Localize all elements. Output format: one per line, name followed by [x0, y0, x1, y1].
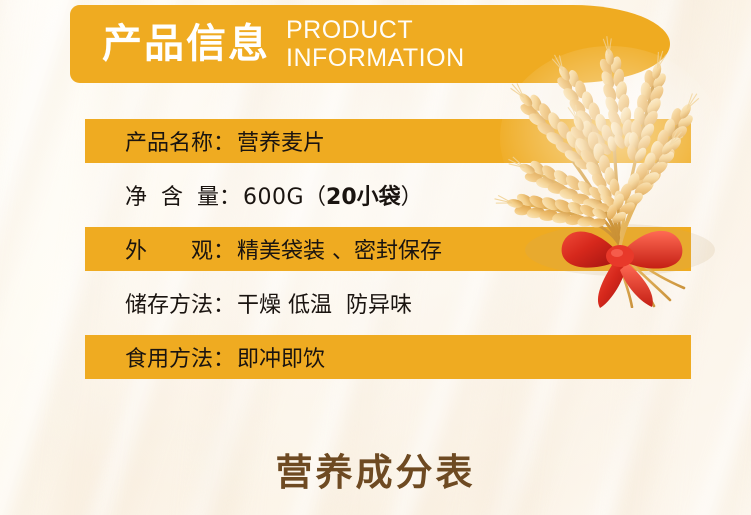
- info-value-net-weight: 600G（20小袋）: [243, 179, 423, 211]
- info-value-usage: 即冲即饮: [237, 341, 325, 373]
- net-weight-paren-open: （: [304, 185, 326, 210]
- product-info-list: 产品名称： 营养麦片 净 含 量： 600G（20小袋） 外 观： 精美袋装 、…: [85, 119, 691, 379]
- info-label-product-name: 产品名称：: [125, 125, 235, 157]
- header-title-en-line2: INFORMATION: [286, 44, 465, 72]
- header-title-cn: 产品信息: [102, 24, 270, 64]
- info-label-usage: 食用方法：: [125, 341, 235, 373]
- info-row-net-weight: 净 含 量： 600G（20小袋）: [85, 173, 691, 217]
- info-row-usage: 食用方法： 即冲即饮: [85, 335, 691, 379]
- header-banner: 产品信息 PRODUCT INFORMATION: [70, 5, 670, 83]
- nutrition-table-title: 营养成分表: [0, 442, 751, 496]
- info-label-net-weight: 净 含 量：: [125, 179, 241, 211]
- info-label-appearance: 外 观：: [125, 233, 235, 265]
- info-label-storage: 储存方法：: [125, 287, 235, 319]
- info-value-appearance: 精美袋装 、密封保存: [237, 233, 442, 265]
- info-value-storage: 干燥 低温 防异味: [237, 287, 412, 319]
- header-title-en: PRODUCT INFORMATION: [286, 16, 465, 72]
- info-value-product-name: 营养麦片: [237, 125, 325, 157]
- net-weight-bag-count: 20小袋: [326, 185, 401, 210]
- product-information-graphic: 产品信息 PRODUCT INFORMATION 产品名称： 营养麦片 净 含 …: [0, 0, 751, 515]
- net-weight-paren-close: ）: [401, 185, 423, 210]
- info-row-appearance: 外 观： 精美袋装 、密封保存: [85, 227, 691, 271]
- header-title-en-line1: PRODUCT: [286, 16, 465, 44]
- info-row-storage: 储存方法： 干燥 低温 防异味: [85, 281, 691, 325]
- net-weight-amount: 600G: [243, 185, 304, 210]
- info-row-product-name: 产品名称： 营养麦片: [85, 119, 691, 163]
